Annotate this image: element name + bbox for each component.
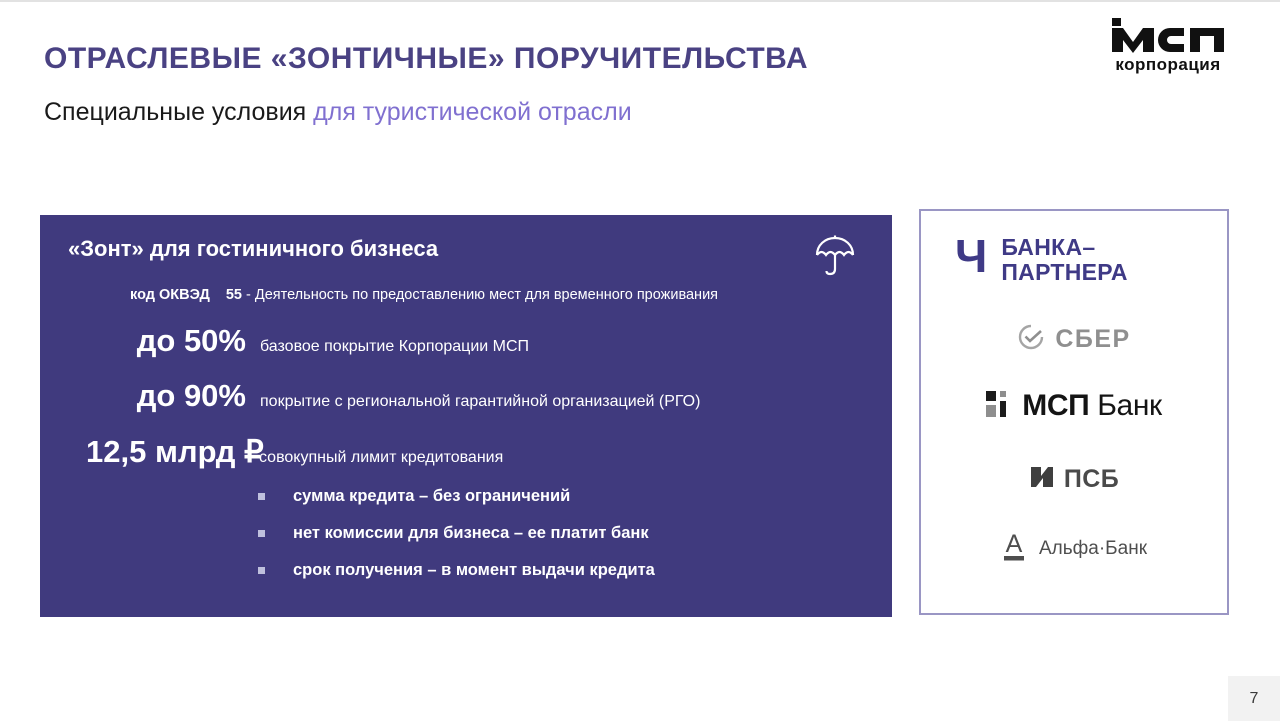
partners-count: Ч bbox=[955, 235, 987, 277]
sber-checkmark-icon bbox=[1017, 323, 1045, 356]
bank-logo-sber: СБЕР bbox=[921, 323, 1227, 356]
bank-name: СБЕР bbox=[1055, 325, 1130, 354]
alfa-bank-a-icon: А bbox=[1001, 529, 1027, 568]
list-item-label: сумма кредита – без ограничений bbox=[293, 487, 570, 506]
svg-text:А: А bbox=[1006, 530, 1023, 558]
partners-heading-line2: ПАРТНЕРА bbox=[1001, 259, 1128, 285]
bank-logo-msp-bank: МСП Банк bbox=[921, 389, 1227, 423]
partners-heading: Ч БАНКА– ПАРТНЕРА bbox=[955, 235, 1128, 285]
msp-corporation-logo: корпорация bbox=[1098, 18, 1238, 73]
page-number: 7 bbox=[1250, 690, 1259, 708]
stat-value: до 50% bbox=[96, 323, 246, 359]
list-item: нет комиссии для бизнеса – ее платит бан… bbox=[258, 524, 655, 543]
conditions-list: сумма кредита – без ограничений нет коми… bbox=[258, 487, 655, 598]
page-subtitle: Специальные условия для туристической от… bbox=[44, 98, 632, 127]
subtitle-plain-text: Специальные условия bbox=[44, 98, 313, 126]
partner-banks-panel: Ч БАНКА– ПАРТНЕРА СБЕР МСП Банк bbox=[919, 209, 1229, 615]
msp-logo-mark-icon bbox=[1098, 18, 1238, 54]
umbrella-icon bbox=[812, 233, 858, 279]
bank-logo-alfa-bank: А Альфа·Банк bbox=[921, 529, 1227, 568]
bank-name-suffix: Банк bbox=[1097, 389, 1161, 422]
stat-row-total-limit: 12,5 млрд ₽ совокупный лимит кредитовани… bbox=[86, 434, 503, 470]
bullet-square-icon bbox=[258, 567, 265, 574]
bank-name: Альфа·Банк bbox=[1039, 538, 1147, 560]
bank-name-main: МСП bbox=[1022, 389, 1089, 422]
bank-name: МСП Банк bbox=[1022, 389, 1161, 423]
okved-code: 55 bbox=[226, 287, 242, 303]
bullet-square-icon bbox=[258, 530, 265, 537]
stat-value: до 90% bbox=[96, 378, 246, 414]
page-title: ОТРАСЛЕВЫЕ «ЗОНТИЧНЫЕ» ПОРУЧИТЕЛЬСТВА bbox=[44, 42, 808, 76]
list-item-label: срок получения – в момент выдачи кредита bbox=[293, 561, 655, 580]
bank-name: ПСБ bbox=[1064, 465, 1119, 494]
stat-row-rgo-coverage: до 90% покрытие с региональной гарантийн… bbox=[96, 378, 700, 414]
okved-label: код ОКВЭД bbox=[130, 287, 210, 303]
umbrella-offer-card: «Зонт» для гостиничного бизнеса код ОКВЭ… bbox=[40, 215, 892, 617]
bank-logo-psb: ПСБ bbox=[921, 463, 1227, 496]
card-title: «Зонт» для гостиничного бизнеса bbox=[68, 236, 438, 262]
partners-heading-line1: БАНКА– bbox=[1001, 234, 1095, 260]
partners-heading-text: БАНКА– ПАРТНЕРА bbox=[1001, 235, 1128, 285]
top-divider bbox=[0, 0, 1280, 2]
list-item: сумма кредита – без ограничений bbox=[258, 487, 655, 506]
msp-logo-caption: корпорация bbox=[1098, 56, 1238, 73]
psb-mark-icon bbox=[1029, 463, 1055, 496]
list-item-label: нет комиссии для бизнеса – ее платит бан… bbox=[293, 524, 649, 543]
stat-value: 12,5 млрд ₽ bbox=[86, 434, 251, 470]
stat-description: совокупный лимит кредитования bbox=[259, 449, 503, 467]
okved-description: - Деятельность по предоставлению мест дл… bbox=[242, 287, 718, 303]
page-number-box: 7 bbox=[1228, 676, 1280, 721]
bullet-square-icon bbox=[258, 493, 265, 500]
list-item: срок получения – в момент выдачи кредита bbox=[258, 561, 655, 580]
stat-description: покрытие с региональной гарантийной орга… bbox=[260, 393, 700, 411]
okved-row: код ОКВЭД55 - Деятельность по предоставл… bbox=[130, 287, 718, 303]
stat-description: базовое покрытие Корпорации МСП bbox=[260, 338, 529, 356]
subtitle-accent-text: для туристической отрасли bbox=[313, 98, 632, 126]
msp-bank-square-icon bbox=[986, 391, 1012, 422]
stat-row-base-coverage: до 50% базовое покрытие Корпорации МСП bbox=[96, 323, 529, 359]
